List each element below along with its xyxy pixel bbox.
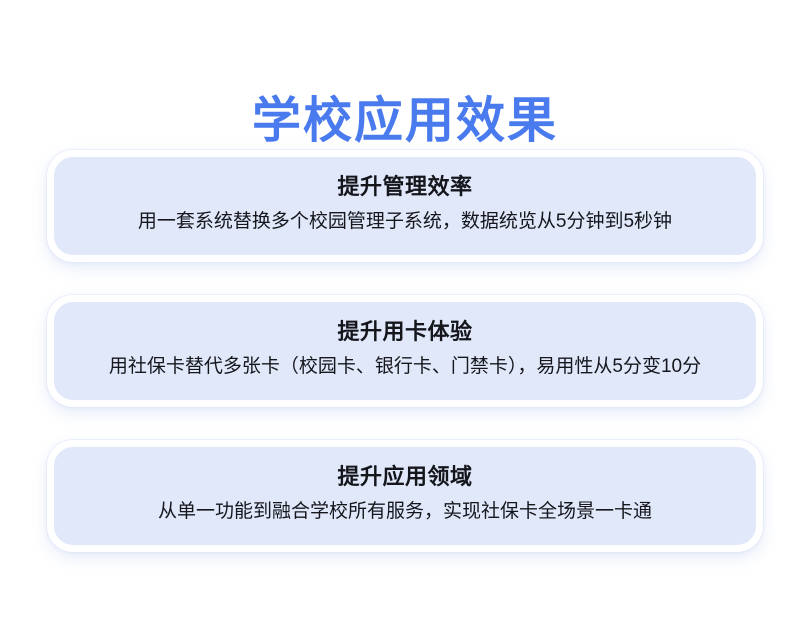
benefit-card-title: 提升应用领域 [80,461,730,493]
benefit-card: 提升应用领域 从单一功能到融合学校所有服务，实现社保卡全场景一卡通 [47,440,763,552]
benefit-card-title: 提升管理效率 [80,171,730,203]
benefit-card-description: 用社保卡替代多张卡（校园卡、银行卡、门禁卡），易用性从5分变10分 [80,352,730,382]
benefit-card: 提升用卡体验 用社保卡替代多张卡（校园卡、银行卡、门禁卡），易用性从5分变10分 [47,295,763,407]
page-title: 学校应用效果 [0,93,810,149]
benefit-card-description: 从单一功能到融合学校所有服务，实现社保卡全场景一卡通 [80,497,730,527]
school-effect-page: 学校应用效果 提升管理效率 用一套系统替换多个校园管理子系统，数据统览从5分钟到… [0,0,810,622]
benefit-card-list: 提升管理效率 用一套系统替换多个校园管理子系统，数据统览从5分钟到5秒钟 提升用… [0,150,810,552]
benefit-card: 提升管理效率 用一套系统替换多个校园管理子系统，数据统览从5分钟到5秒钟 [47,150,763,262]
benefit-card-description: 用一套系统替换多个校园管理子系统，数据统览从5分钟到5秒钟 [80,207,730,237]
benefit-card-title: 提升用卡体验 [80,316,730,348]
